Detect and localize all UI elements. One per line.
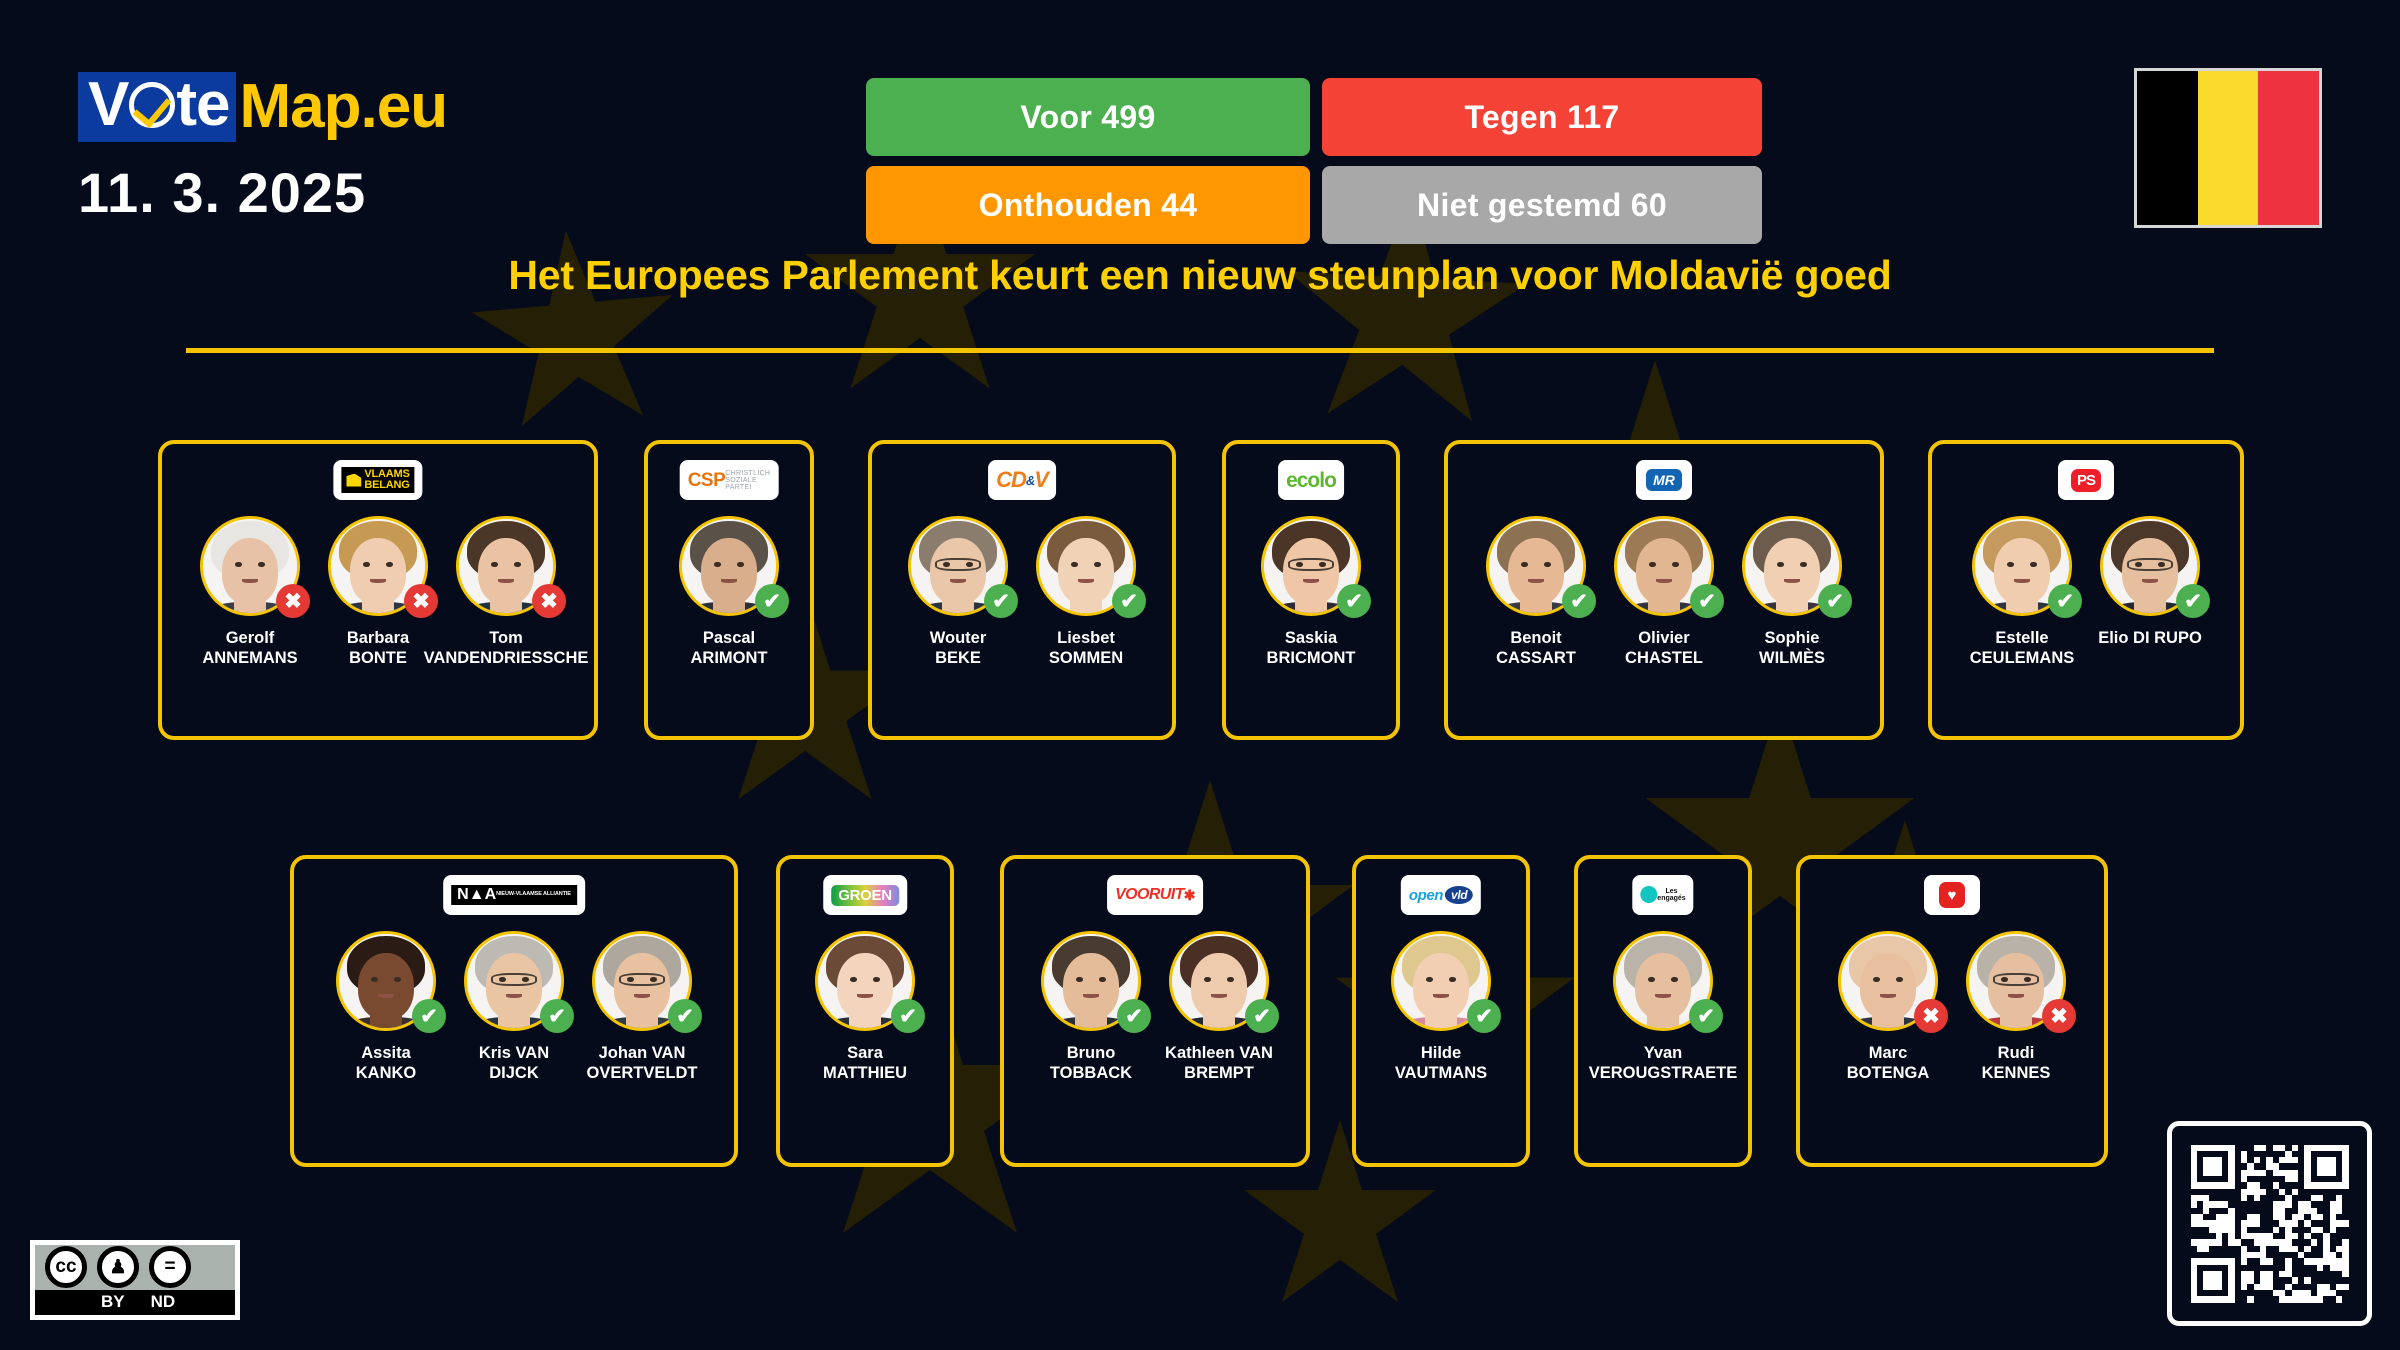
tally-against[interactable]: Tegen 117	[1322, 78, 1762, 156]
flag-band-2	[2258, 71, 2319, 225]
mep-name: Elio DI RUPO	[2098, 628, 2202, 648]
member-list: ✔Wouter BEKE✔Liesbet SOMMEN	[872, 516, 1172, 668]
party-logo-cdv-icon: CD&V	[988, 460, 1056, 500]
party-card-vooruit[interactable]: VOORUIT✱✔Bruno TOBBACK✔Kathleen VAN BREM…	[1000, 855, 1310, 1167]
party-logo-openvld-icon: openvld	[1401, 875, 1481, 915]
cc-nd-label: ND	[151, 1292, 176, 1312]
flag-band-0	[2137, 71, 2198, 225]
qr-code	[2191, 1145, 2349, 1303]
party-logo-les-engages-icon: Lesengagés	[1632, 875, 1693, 915]
mep-name: Saskia BRICMONT	[1267, 628, 1356, 668]
mep-item[interactable]: ✔Benoit CASSART	[1477, 516, 1595, 668]
mep-avatar-wrap: ✖	[1838, 931, 1938, 1031]
mep-avatar-wrap: ✔	[1486, 516, 1586, 616]
mep-item[interactable]: ✖Gerolf ANNEMANS	[191, 516, 309, 668]
mep-name: Pascal ARIMONT	[691, 628, 768, 668]
mep-item[interactable]: ✖Tom VANDENDRIESSCHE	[447, 516, 565, 668]
vote-badge-yes-icon: ✔	[2176, 584, 2210, 618]
vote-badge-yes-icon: ✔	[1689, 999, 1723, 1033]
party-card-csp[interactable]: CSPCHRISTLICH SOZIALE PARTEI✔Pascal ARIM…	[644, 440, 814, 740]
party-logo-ecolo-icon: ecolo	[1278, 460, 1344, 500]
member-list: ✔Yvan VEROUGSTRAETE	[1578, 931, 1748, 1083]
member-list: ✔Assita KANKO✔Kris VAN DIJCK✔Johan VAN O…	[294, 931, 734, 1083]
mep-item[interactable]: ✔Estelle CEULEMANS	[1963, 516, 2081, 668]
title-divider	[186, 348, 2214, 353]
mep-name: Bruno TOBBACK	[1050, 1043, 1132, 1083]
mep-item[interactable]: ✖Rudi KENNES	[1957, 931, 2075, 1083]
party-card-cdv[interactable]: CD&V✔Wouter BEKE✔Liesbet SOMMEN	[868, 440, 1176, 740]
party-logo-vooruit-icon: VOORUIT✱	[1107, 875, 1203, 915]
vote-badge-no-icon: ✖	[276, 584, 310, 618]
creative-commons-badge: cc ♟ = BY ND	[30, 1240, 240, 1320]
mep-item[interactable]: ✔Sophie WILMÈS	[1733, 516, 1851, 668]
member-list: ✔Saskia BRICMONT	[1226, 516, 1396, 668]
mep-name: Assita KANKO	[356, 1043, 417, 1083]
party-logo-csp-icon: CSPCHRISTLICH SOZIALE PARTEI	[680, 460, 779, 500]
qr-code-box[interactable]	[2167, 1121, 2372, 1326]
mep-name: Sara MATTHIEU	[823, 1043, 907, 1083]
mep-name: Yvan VEROUGSTRAETE	[1589, 1043, 1738, 1083]
mep-item[interactable]: ✔Bruno TOBBACK	[1032, 931, 1150, 1083]
mep-avatar-wrap: ✔	[1169, 931, 1269, 1031]
vote-badge-yes-icon: ✔	[755, 584, 789, 618]
brand-te: te	[176, 74, 229, 136]
member-list: ✖Marc BOTENGA✖Rudi KENNES	[1800, 931, 2104, 1083]
mep-avatar-wrap: ✔	[1972, 516, 2072, 616]
party-logo-vlaams-belang-icon: VLAAMSBELANG	[333, 460, 422, 500]
cc-icon: cc	[45, 1246, 87, 1288]
vote-badge-yes-icon: ✔	[668, 999, 702, 1033]
mep-name: Benoit CASSART	[1496, 628, 1576, 668]
member-list: ✔Estelle CEULEMANS✔Elio DI RUPO	[1932, 516, 2240, 668]
mep-item[interactable]: ✔Johan VAN OVERTVELDT	[583, 931, 701, 1083]
mep-name: Tom VANDENDRIESSCHE	[424, 628, 589, 668]
member-list: ✔Sara MATTHIEU	[780, 931, 950, 1083]
brand-logo[interactable]: Vte Map.eu	[78, 72, 447, 142]
vote-badge-no-icon: ✖	[1914, 999, 1948, 1033]
vote-badge-yes-icon: ✔	[1690, 584, 1724, 618]
mep-name: Gerolf ANNEMANS	[202, 628, 297, 668]
party-card-ecolo[interactable]: ecolo✔Saskia BRICMONT	[1222, 440, 1400, 740]
mep-avatar-wrap: ✔	[679, 516, 779, 616]
mep-avatar-wrap: ✔	[1614, 516, 1714, 616]
brand-logo-box: Vte	[78, 72, 236, 142]
mep-avatar-wrap: ✔	[1391, 931, 1491, 1031]
vote-badge-yes-icon: ✔	[540, 999, 574, 1033]
party-card-groen[interactable]: GROEN✔Sara MATTHIEU	[776, 855, 954, 1167]
tally-abstained[interactable]: Onthouden 44	[866, 166, 1310, 244]
mep-avatar-wrap: ✖	[456, 516, 556, 616]
vote-badge-yes-icon: ✔	[1117, 999, 1151, 1033]
mep-avatar-wrap: ✔	[336, 931, 436, 1031]
mep-avatar-wrap: ✔	[1261, 516, 1361, 616]
party-card-pvda[interactable]: ♥✖Marc BOTENGA✖Rudi KENNES	[1796, 855, 2108, 1167]
mep-avatar-wrap: ✔	[908, 516, 1008, 616]
mep-item[interactable]: ✔Olivier CHASTEL	[1605, 516, 1723, 668]
vote-badge-yes-icon: ✔	[1467, 999, 1501, 1033]
cc-icons: cc ♟ =	[35, 1245, 235, 1290]
cc-labels: BY ND	[35, 1290, 235, 1315]
party-logo-ps-icon: PS	[2058, 460, 2114, 500]
mep-item[interactable]: ✔Wouter BEKE	[899, 516, 1017, 668]
mep-name: Hilde VAUTMANS	[1395, 1043, 1487, 1083]
vote-badge-no-icon: ✖	[532, 584, 566, 618]
party-logo-groen-icon: GROEN	[823, 875, 907, 915]
mep-avatar-wrap: ✖	[200, 516, 300, 616]
party-card-openvld[interactable]: openvld✔Hilde VAUTMANS	[1352, 855, 1530, 1167]
equals-icon: =	[149, 1246, 191, 1288]
member-list: ✔Bruno TOBBACK✔Kathleen VAN BREMPT	[1004, 931, 1306, 1083]
page-title: Het Europees Parlement keurt een nieuw s…	[0, 252, 2400, 299]
mep-avatar-wrap: ✔	[1036, 516, 1136, 616]
party-logo-nva-icon: N▲ANIEUW-VLAAMSE ALLIANTIE	[443, 875, 585, 915]
mep-avatar-wrap: ✔	[592, 931, 692, 1031]
person-icon: ♟	[97, 1246, 139, 1288]
brand-map-text: Map.eu	[240, 76, 448, 138]
brand-v: V	[88, 74, 128, 136]
mep-item[interactable]: ✔Kathleen VAN BREMPT	[1160, 931, 1278, 1083]
cc-inner: cc ♟ = BY ND	[35, 1245, 235, 1315]
vote-badge-no-icon: ✖	[2042, 999, 2076, 1033]
party-card-mr[interactable]: MR✔Benoit CASSART✔Olivier CHASTEL✔Sophie…	[1444, 440, 1884, 740]
mep-item[interactable]: ✖Barbara BONTE	[319, 516, 437, 668]
mep-item[interactable]: ✔Pascal ARIMONT	[670, 516, 788, 668]
mep-item[interactable]: ✔Assita KANKO	[327, 931, 445, 1083]
member-list: ✔Pascal ARIMONT	[648, 516, 810, 668]
belgium-flag-icon	[2134, 68, 2322, 228]
mep-name: Olivier CHASTEL	[1625, 628, 1703, 668]
vote-badge-yes-icon: ✔	[1818, 584, 1852, 618]
mep-avatar-wrap: ✖	[328, 516, 428, 616]
member-list: ✔Benoit CASSART✔Olivier CHASTEL✔Sophie W…	[1448, 516, 1880, 668]
vote-badge-yes-icon: ✔	[984, 584, 1018, 618]
mep-item[interactable]: ✔Hilde VAUTMANS	[1382, 931, 1500, 1083]
mep-avatar-wrap: ✔	[1041, 931, 1141, 1031]
votemap-infographic: Vte Map.eu 11. 3. 2025 Voor 499 Tegen 11…	[0, 0, 2400, 1350]
mep-name: Barbara BONTE	[347, 628, 409, 668]
mep-name: Kathleen VAN BREMPT	[1165, 1043, 1273, 1083]
party-card-les-engages[interactable]: Lesengagés✔Yvan VEROUGSTRAETE	[1574, 855, 1752, 1167]
mep-name: Marc BOTENGA	[1847, 1043, 1930, 1083]
member-list: ✔Hilde VAUTMANS	[1356, 931, 1526, 1083]
mep-item[interactable]: ✔Sara MATTHIEU	[806, 931, 924, 1083]
mep-name: Kris VAN DIJCK	[479, 1043, 549, 1083]
vote-badge-yes-icon: ✔	[1245, 999, 1279, 1033]
mep-item[interactable]: ✔Liesbet SOMMEN	[1027, 516, 1145, 668]
vote-badge-yes-icon: ✔	[412, 999, 446, 1033]
brand-vote-text: Vte	[88, 74, 230, 136]
mep-item[interactable]: ✔Yvan VEROUGSTRAETE	[1604, 931, 1722, 1083]
vote-badge-yes-icon: ✔	[891, 999, 925, 1033]
cc-by-label: BY	[101, 1292, 125, 1312]
party-card-ps[interactable]: PS✔Estelle CEULEMANS✔Elio DI RUPO	[1928, 440, 2244, 740]
mep-avatar-wrap: ✔	[464, 931, 564, 1031]
mep-avatar-wrap: ✔	[815, 931, 915, 1031]
mep-item[interactable]: ✔Kris VAN DIJCK	[455, 931, 573, 1083]
mep-name: Liesbet SOMMEN	[1049, 628, 1123, 668]
party-card-vlaams-belang[interactable]: VLAAMSBELANG✖Gerolf ANNEMANS✖Barbara BON…	[158, 440, 598, 740]
vote-badge-yes-icon: ✔	[1112, 584, 1146, 618]
mep-avatar-wrap: ✔	[2100, 516, 2200, 616]
header: Vte Map.eu 11. 3. 2025 Voor 499 Tegen 11…	[0, 0, 2400, 290]
mep-item[interactable]: ✔Elio DI RUPO	[2091, 516, 2209, 648]
mep-name: Rudi KENNES	[1982, 1043, 2051, 1083]
mep-avatar-wrap: ✔	[1613, 931, 1713, 1031]
flag-band-1	[2198, 71, 2259, 225]
vote-badge-yes-icon: ✔	[2048, 584, 2082, 618]
mep-name: Wouter BEKE	[930, 628, 987, 668]
mep-avatar-wrap: ✔	[1742, 516, 1842, 616]
vote-tallies: Voor 499 Tegen 117 Onthouden 44 Niet ges…	[866, 78, 1762, 244]
vote-badge-no-icon: ✖	[404, 584, 438, 618]
mep-item[interactable]: ✖Marc BOTENGA	[1829, 931, 1947, 1083]
vote-badge-yes-icon: ✔	[1337, 584, 1371, 618]
party-logo-pvda-icon: ♥	[1924, 875, 1980, 915]
vote-date: 11. 3. 2025	[78, 160, 366, 225]
mep-name: Johan VAN OVERTVELDT	[587, 1043, 698, 1083]
vote-badge-yes-icon: ✔	[1562, 584, 1596, 618]
mep-avatar-wrap: ✖	[1966, 931, 2066, 1031]
party-logo-mr-icon: MR	[1636, 460, 1692, 500]
mep-name: Estelle CEULEMANS	[1970, 628, 2075, 668]
mep-item[interactable]: ✔Saskia BRICMONT	[1252, 516, 1370, 668]
tally-not-voted[interactable]: Niet gestemd 60	[1322, 166, 1762, 244]
party-card-nva[interactable]: N▲ANIEUW-VLAAMSE ALLIANTIE✔Assita KANKO✔…	[290, 855, 738, 1167]
tally-for[interactable]: Voor 499	[866, 78, 1310, 156]
mep-name: Sophie WILMÈS	[1759, 628, 1825, 668]
member-list: ✖Gerolf ANNEMANS✖Barbara BONTE✖Tom VANDE…	[162, 516, 594, 668]
check-circle-icon	[129, 82, 175, 128]
